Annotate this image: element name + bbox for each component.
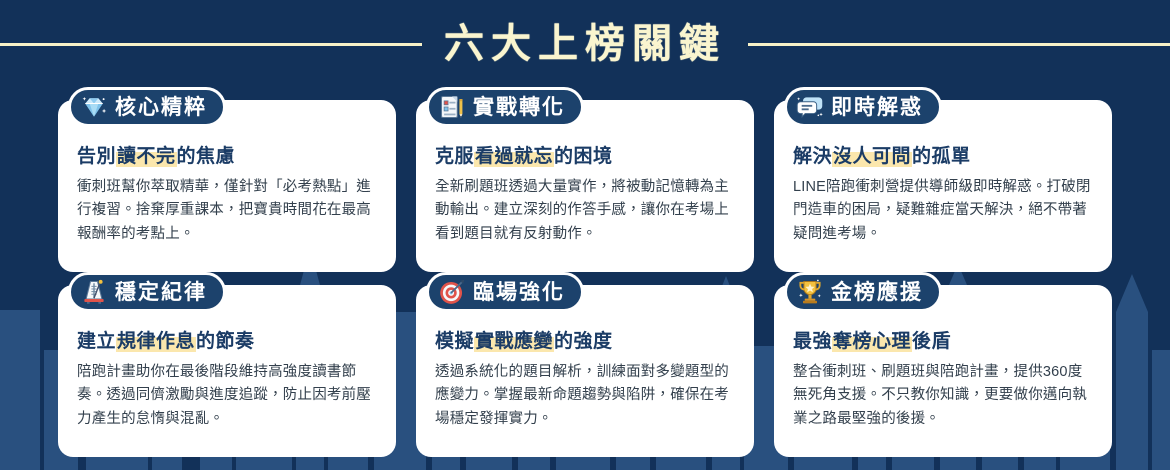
card-badge-label: 臨場強化 (473, 282, 565, 303)
card-body-text: 整合衝刺班、刷題班與陪跑計畫，提供360度無死角支援。不只教你知識，更要做你邁向… (793, 361, 1096, 431)
dartboard-icon (438, 278, 466, 306)
heading-suffix: 的焦慮 (177, 146, 236, 167)
card-heading: 解決沒人可問的孤單 (793, 146, 1096, 169)
heading-prefix: 建立 (77, 331, 116, 352)
heading-prefix: 模擬 (435, 331, 474, 352)
card-badge: 即時解惑 (784, 87, 942, 127)
key-point-card[interactable]: 穩定紀律 建立規律作息的節奏 陪跑計畫助你在最後階段維持高強度讀書節奏。透過同儕… (58, 285, 396, 457)
card-badge: 核心精粹 (68, 87, 226, 127)
key-point-card[interactable]: 核心精粹 告別讀不完的焦慮 衝刺班幫你萃取精華，僅針對「必考熱點」進行複習。捨棄… (58, 100, 396, 272)
card-badge-label: 實戰轉化 (473, 97, 565, 118)
card-body-text: 透過系統化的題目解析，訓練面對多變題型的應變力。掌握最新命題趨勢與陷阱，確保在考… (435, 361, 738, 431)
heading-highlight: 奪榜心理 (832, 331, 912, 352)
trophy-icon (796, 278, 824, 306)
card-body-text: 衝刺班幫你萃取精華，僅針對「必考熱點」進行複習。捨棄厚重課本，把寶貴時間花在最高… (77, 176, 380, 246)
card-badge-label: 即時解惑 (831, 97, 923, 118)
card-body-text: LINE陪跑衝刺營提供導師級即時解惑。打破閉門造車的困局，疑難雜症當天解決，絕不… (793, 176, 1096, 246)
heading-highlight: 實戰應變 (474, 331, 554, 352)
diamond-icon (80, 93, 108, 121)
clipboard-pencil-icon (438, 93, 466, 121)
heading-suffix: 的孤單 (912, 146, 971, 167)
card-heading: 克服看過就忘的困境 (435, 146, 738, 169)
heading-highlight: 看過就忘 (474, 146, 554, 167)
heading-highlight: 讀不完 (116, 146, 177, 167)
card-badge: 穩定紀律 (68, 272, 226, 312)
card-badge: 實戰轉化 (426, 87, 584, 127)
card-badge-label: 核心精粹 (115, 97, 207, 118)
card-heading: 最強奪榜心理後盾 (793, 331, 1096, 354)
key-points-grid: 核心精粹 告別讀不完的焦慮 衝刺班幫你萃取精華，僅針對「必考熱點」進行複習。捨棄… (58, 100, 1112, 457)
card-badge-label: 穩定紀律 (115, 282, 207, 303)
card-heading: 告別讀不完的焦慮 (77, 146, 380, 169)
heading-suffix: 後盾 (912, 331, 951, 352)
heading-prefix: 最強 (793, 331, 832, 352)
heading-highlight: 沒人可問 (832, 146, 912, 167)
card-body-text: 陪跑計畫助你在最後階段維持高強度讀書節奏。透過同儕激勵與進度追蹤，防止因考前壓力… (77, 361, 380, 431)
card-badge-label: 金榜應援 (831, 282, 923, 303)
card-body-text: 全新刷題班透過大量實作，將被動記憶轉為主動輸出。建立深刻的作答手感，讓你在考場上… (435, 176, 738, 246)
metronome-icon (80, 278, 108, 306)
heading-prefix: 克服 (435, 146, 474, 167)
chat-bubbles-icon (796, 93, 824, 121)
key-point-card[interactable]: 即時解惑 解決沒人可問的孤單 LINE陪跑衝刺營提供導師級即時解惑。打破閉門造車… (774, 100, 1112, 272)
key-point-card[interactable]: 實戰轉化 克服看過就忘的困境 全新刷題班透過大量實作，將被動記憶轉為主動輸出。建… (416, 100, 754, 272)
heading-highlight: 規律作息 (116, 331, 196, 352)
key-point-card[interactable]: 金榜應援 最強奪榜心理後盾 整合衝刺班、刷題班與陪跑計畫，提供360度無死角支援… (774, 285, 1112, 457)
card-badge: 臨場強化 (426, 272, 584, 312)
card-badge: 金榜應援 (784, 272, 942, 312)
card-heading: 建立規律作息的節奏 (77, 331, 380, 354)
heading-prefix: 告別 (77, 146, 116, 167)
heading-suffix: 的節奏 (196, 331, 255, 352)
heading-suffix: 的困境 (554, 146, 613, 167)
page-title: 六大上榜關鍵 (422, 24, 748, 64)
card-heading: 模擬實戰應變的強度 (435, 331, 738, 354)
heading-suffix: 的強度 (554, 331, 613, 352)
heading-prefix: 解決 (793, 146, 832, 167)
header: 六大上榜關鍵 (0, 13, 1170, 75)
key-point-card[interactable]: 臨場強化 模擬實戰應變的強度 透過系統化的題目解析，訓練面對多變題型的應變力。掌… (416, 285, 754, 457)
